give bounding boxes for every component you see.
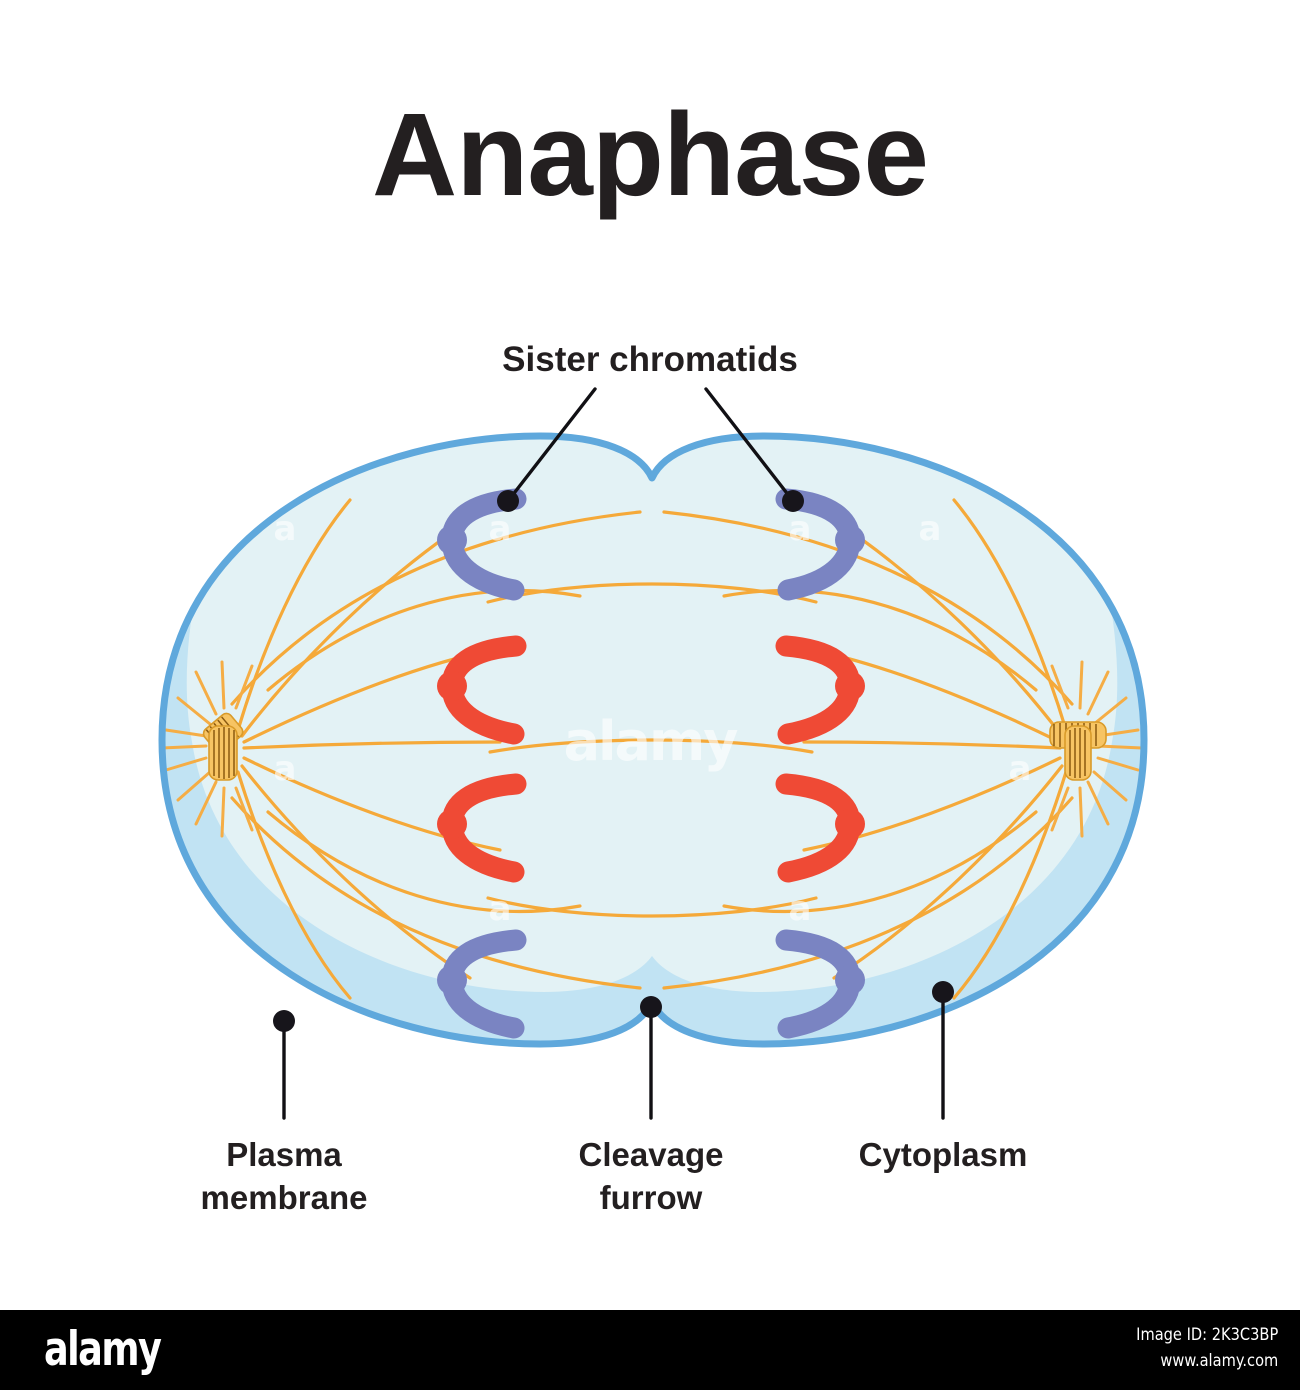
footer-image-id: Image ID: 2K3C3BP	[1136, 1322, 1278, 1348]
label-sister-chromatids: Sister chromatids	[502, 340, 798, 379]
watermark-mark: a	[489, 509, 512, 549]
anaphase-diagram: Anaphase	[0, 0, 1300, 1310]
label-cleavage-furrow: Cleavage furrow	[579, 1136, 724, 1216]
footer-bar: alamy Image ID: 2K3C3BP www.alamy.com	[0, 1310, 1300, 1390]
label-cleavage-furrow-line1: Cleavage	[579, 1136, 724, 1173]
leader-dot-sister-right	[782, 490, 804, 512]
watermark-mark: a	[789, 509, 812, 549]
watermark-mark: a	[274, 509, 297, 549]
watermark-mark: a	[1009, 749, 1032, 789]
watermark-mark: a	[789, 889, 812, 929]
watermark-mark: a	[919, 509, 942, 549]
watermark-brand: alamy	[564, 710, 739, 773]
label-plasma-membrane: Plasma membrane	[201, 1136, 368, 1216]
alamy-logo: alamy	[44, 1322, 160, 1377]
leader-dot-plasma-membrane	[273, 1010, 295, 1032]
watermark-mark: a	[274, 749, 297, 789]
page-title: Anaphase	[372, 89, 928, 221]
footer-attribution: Image ID: 2K3C3BP www.alamy.com	[1136, 1322, 1278, 1374]
footer-website[interactable]: www.alamy.com	[1136, 1348, 1278, 1374]
leader-dot-cleavage-furrow	[640, 996, 662, 1018]
watermark-brand: alamy	[914, 1172, 1089, 1235]
label-plasma-membrane-line1: Plasma	[226, 1136, 342, 1173]
watermark-mark: a	[489, 889, 512, 929]
label-plasma-membrane-line2: membrane	[201, 1179, 368, 1216]
figure-root: Anaphase	[0, 0, 1300, 1310]
label-cleavage-furrow-line2: furrow	[600, 1179, 703, 1216]
label-cytoplasm: Cytoplasm	[859, 1136, 1028, 1173]
leader-dot-cytoplasm	[932, 981, 954, 1003]
leader-dot-sister-left	[497, 490, 519, 512]
